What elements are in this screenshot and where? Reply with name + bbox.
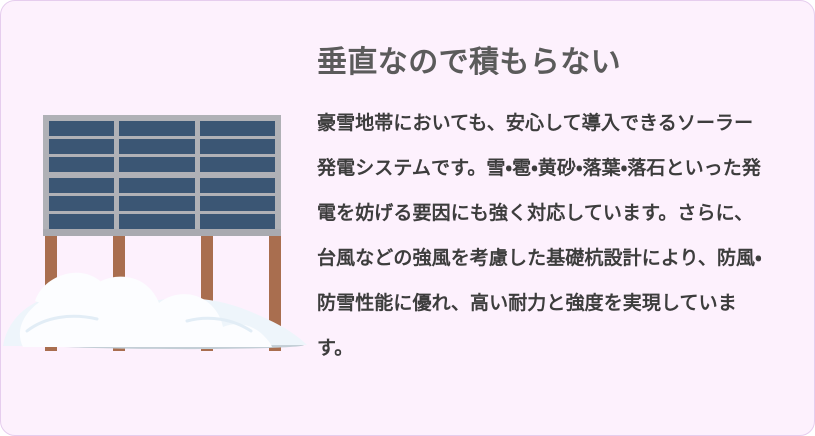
panel-cell: [49, 139, 114, 154]
panel-cell: [49, 214, 114, 229]
panel-cell: [119, 121, 195, 136]
panel-cell: [49, 196, 114, 211]
feature-card: 垂直なので積もらない 豪雪地帯においても、安心して導入できるソーラー発電システム…: [0, 0, 815, 436]
panel-cell: [200, 196, 275, 211]
panel-cell: [49, 157, 114, 172]
page-title: 垂直なので積もらない: [317, 44, 786, 82]
panel-cell: [119, 157, 195, 172]
panel-cell: [200, 214, 275, 229]
panel-cell: [49, 121, 114, 136]
snow-drift-group: [3, 273, 307, 349]
illustration-vertical-solar-panel-in-snow: [1, 1, 311, 436]
panel-cell: [119, 196, 195, 211]
body-paragraph: 豪雪地帯においても、安心して導入できるソーラー発電システムです。雪・雹・黄砂・落…: [317, 101, 769, 371]
panel-cell: [119, 178, 195, 193]
panel-cell: [200, 157, 275, 172]
text-column: 垂直なので積もらない 豪雪地帯においても、安心して導入できるソーラー発電システム…: [311, 1, 814, 371]
panel-cell: [119, 214, 195, 229]
panel-cell: [119, 139, 195, 154]
panel-cell: [200, 178, 275, 193]
panel-frame-bottom-shadow: [43, 229, 281, 236]
panel-cell: [200, 121, 275, 136]
panel-cell: [200, 139, 275, 154]
panel-cell: [49, 178, 114, 193]
solar-panel-snow-svg: [1, 1, 311, 436]
